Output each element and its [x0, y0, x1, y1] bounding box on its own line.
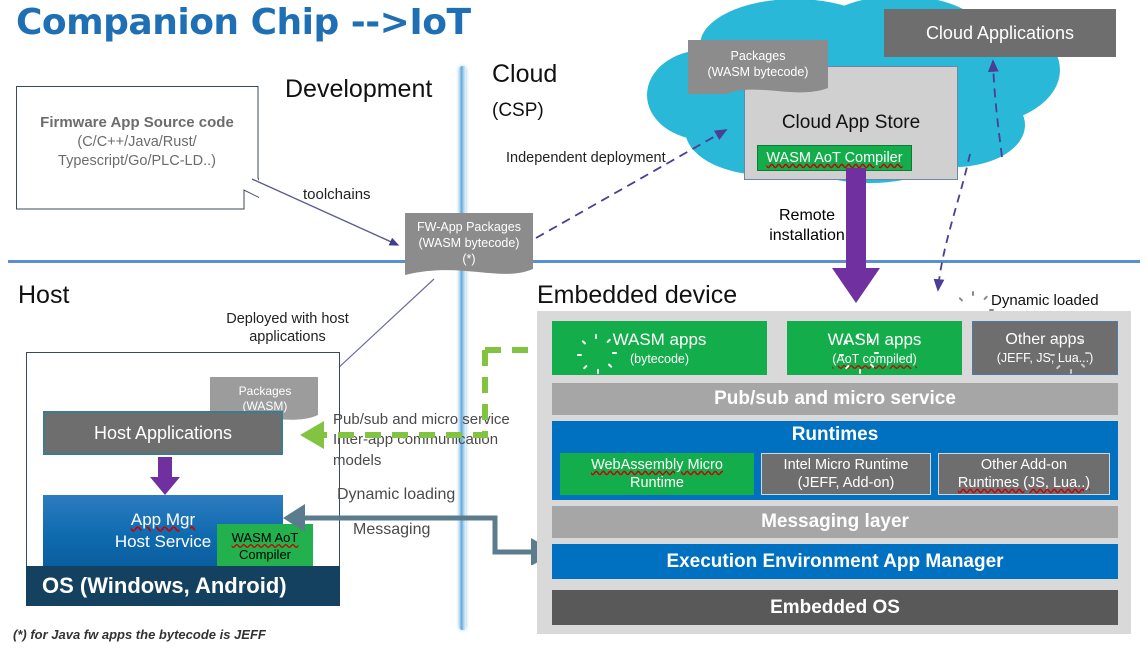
cloud-applications-label: Cloud Applications — [926, 23, 1074, 44]
page-title: Companion Chip -->IoT — [16, 2, 471, 43]
section-embedded-device: Embedded device — [537, 281, 737, 310]
cloud-aot-compiler-label: WASM AoT Compiler — [766, 150, 902, 166]
app-store-to-cloud-apps-arrow — [960, 45, 1020, 165]
embedded-app-1-spinner-icon — [847, 333, 869, 355]
cloud-packages-label: Packages (WASM bytecode) — [688, 45, 828, 85]
host-service-label: Host Service — [115, 531, 211, 553]
embedded-app-2-spinner-icon — [1058, 333, 1080, 355]
fw-app-packages-label: FW-App Packages (WASM bytecode) (*) — [404, 216, 534, 270]
host-os-label: OS (Windows, Android) — [42, 573, 287, 599]
embedded-app-2[interactable]: Other apps (JEFF, JS, Lua...) — [972, 321, 1118, 375]
embedded-runtime-2[interactable]: Other Add-on Runtimes (JS, Lua..) — [938, 453, 1110, 495]
embedded-runtime-0[interactable]: WebAssembly Micro Runtime — [560, 453, 754, 495]
embedded-pubsub-bar[interactable]: Pub/sub and micro service — [552, 383, 1118, 415]
section-cloud: Cloud — [492, 60, 557, 89]
host-applications-box[interactable]: Host Applications — [43, 411, 283, 455]
embedded-app-manager[interactable]: Execution Environment App Manager — [552, 544, 1118, 579]
embedded-app-1[interactable]: WASM apps (AoT compiled) — [787, 321, 962, 375]
dynamic-loaded-spinner-icon — [962, 290, 984, 312]
footnote: (*) for Java fw apps the bytecode is JEF… — [13, 627, 266, 642]
host-apps-to-appmgr-arrow — [148, 457, 182, 497]
embedded-messaging-layer[interactable]: Messaging layer — [552, 506, 1118, 538]
embedded-app-0-spinner-icon — [585, 333, 607, 355]
section-host: Host — [18, 281, 69, 310]
independent-deployment-arrow — [530, 120, 745, 245]
firmware-source-text: Firmware App Source code (C/C++/Java/Rus… — [18, 107, 256, 177]
embedded-runtime-1[interactable]: Intel Micro Runtime (JEFF, Add-on) — [761, 453, 931, 495]
section-cloud-sub: (CSP) — [492, 100, 544, 122]
dynamic-loaded-label: Dynamic loaded — [991, 292, 1099, 309]
section-development: Development — [285, 75, 432, 104]
embedded-os[interactable]: Embedded OS — [552, 590, 1118, 625]
dynamic-loading-label: Dynamic loading — [337, 486, 455, 504]
toolchains-arrow — [248, 175, 413, 253]
host-os-box[interactable]: OS (Windows, Android) — [26, 566, 340, 606]
host-applications-label: Host Applications — [94, 423, 232, 444]
green-dashed-connector — [280, 330, 555, 450]
dynamic-loaded-arrow — [920, 150, 980, 305]
embedded-runtimes-title: Runtimes — [552, 422, 1118, 448]
remote-installation-arrow — [830, 168, 882, 308]
cloud-app-store-title: Cloud App Store — [744, 110, 958, 136]
app-mgr-label: App Mgr — [131, 509, 195, 531]
messaging-label: Messaging — [353, 521, 430, 539]
